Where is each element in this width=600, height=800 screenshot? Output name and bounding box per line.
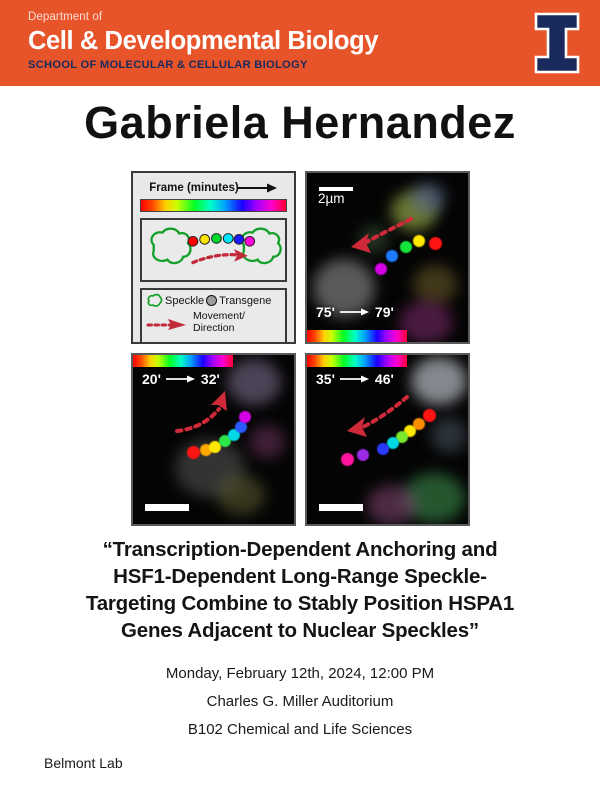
speckle-icon <box>146 293 163 308</box>
figure-row-top: Frame (minutes) <box>131 171 477 344</box>
legend-row-movement: Movement/ Direction <box>146 310 281 335</box>
frame-minutes-label: Frame (minutes) <box>149 182 238 194</box>
movement-arrow-icon <box>146 317 188 331</box>
header-text-block: Department of Cell & Developmental Biolo… <box>0 0 378 72</box>
legend-transgene-label: Transgene <box>219 295 271 307</box>
speckle-transgene-diagram <box>140 218 287 282</box>
micrograph-canvas: 20' 32' <box>133 355 294 524</box>
department-of-label: Department of <box>28 11 378 24</box>
time-range-label: 35' 46' <box>316 371 394 387</box>
talk-title-line-3: Targeting Combine to Stably Position HSP… <box>40 590 560 617</box>
talk-title-line-2: HSF1-Dependent Long-Range Speckle- <box>40 563 560 590</box>
school-name: SCHOOL OF MOLECULAR & CELLULAR BIOLOGY <box>28 59 378 72</box>
right-arrow-icon <box>166 374 196 384</box>
rainbow-time-colorbar <box>307 330 407 342</box>
legend-speckle-label: Speckle <box>165 295 204 307</box>
legend-movement-line1: Movement/ <box>193 311 245 323</box>
event-datetime: Monday, February 12th, 2024, 12:00 PM <box>40 660 560 688</box>
speckle-diagram-svg <box>142 220 285 280</box>
right-arrow-icon <box>238 182 278 194</box>
frame-minutes-label-row: Frame (minutes) <box>140 182 287 194</box>
panel-schematic-legend: Frame (minutes) <box>131 171 296 344</box>
talk-title-line-1: “Transcription-Dependent Anchoring and <box>40 536 560 563</box>
time-end-label: 79' <box>375 304 394 320</box>
time-start-label: 35' <box>316 371 335 387</box>
rainbow-time-colorbar <box>140 199 287 212</box>
time-range-label: 75' 79' <box>316 304 394 320</box>
department-header-banner: Department of Cell & Developmental Biolo… <box>0 0 600 86</box>
transgene-icon <box>206 295 217 306</box>
panel-top-right-micrograph: 2µm 75' 79' <box>305 171 470 344</box>
time-end-label: 46' <box>375 371 394 387</box>
figure-row-bottom: 20' 32' <box>131 353 477 526</box>
time-range-label: 20' 32' <box>142 371 220 387</box>
department-name: Cell & Developmental Biology <box>28 26 378 56</box>
page-title-speaker-name: Gabriela Hernandez <box>0 100 600 145</box>
panel-bottom-right-micrograph: 35' 46' <box>305 353 470 526</box>
event-venue: Charles G. Miller Auditorium <box>40 688 560 716</box>
talk-title-line-4: Genes Adjacent to Nuclear Speckles” <box>40 617 560 644</box>
right-arrow-icon <box>340 374 370 384</box>
time-start-label: 75' <box>316 304 335 320</box>
legend-row-speckle-transgene: Speckle Transgene <box>146 293 281 308</box>
legend-movement-line2: Direction <box>193 323 245 335</box>
rainbow-time-colorbar <box>307 355 407 367</box>
seminar-poster: Department of Cell & Developmental Biolo… <box>0 0 600 800</box>
rainbow-time-colorbar <box>133 355 233 367</box>
micrograph-canvas: 35' 46' <box>307 355 468 524</box>
illinois-block-i-logo <box>534 12 580 74</box>
figure-legend: Speckle Transgene Movement/ Direction <box>140 288 287 344</box>
scale-bar <box>145 504 189 511</box>
event-details: Monday, February 12th, 2024, 12:00 PM Ch… <box>40 660 560 743</box>
time-end-label: 32' <box>201 371 220 387</box>
logo-container <box>514 0 600 86</box>
talk-title: “Transcription-Dependent Anchoring and H… <box>40 536 560 644</box>
right-arrow-icon <box>340 307 370 317</box>
scale-bar <box>319 504 363 511</box>
time-start-label: 20' <box>142 371 161 387</box>
lab-credit: Belmont Lab <box>44 755 123 771</box>
scale-bar-label: 2µm <box>318 191 345 206</box>
event-building: B102 Chemical and Life Sciences <box>40 716 560 744</box>
legend-movement-text: Movement/ Direction <box>193 310 245 335</box>
micrograph-canvas: 2µm 75' 79' <box>307 173 468 342</box>
panel-bottom-left-micrograph: 20' 32' <box>131 353 296 526</box>
microscopy-figure: Frame (minutes) <box>131 171 477 526</box>
